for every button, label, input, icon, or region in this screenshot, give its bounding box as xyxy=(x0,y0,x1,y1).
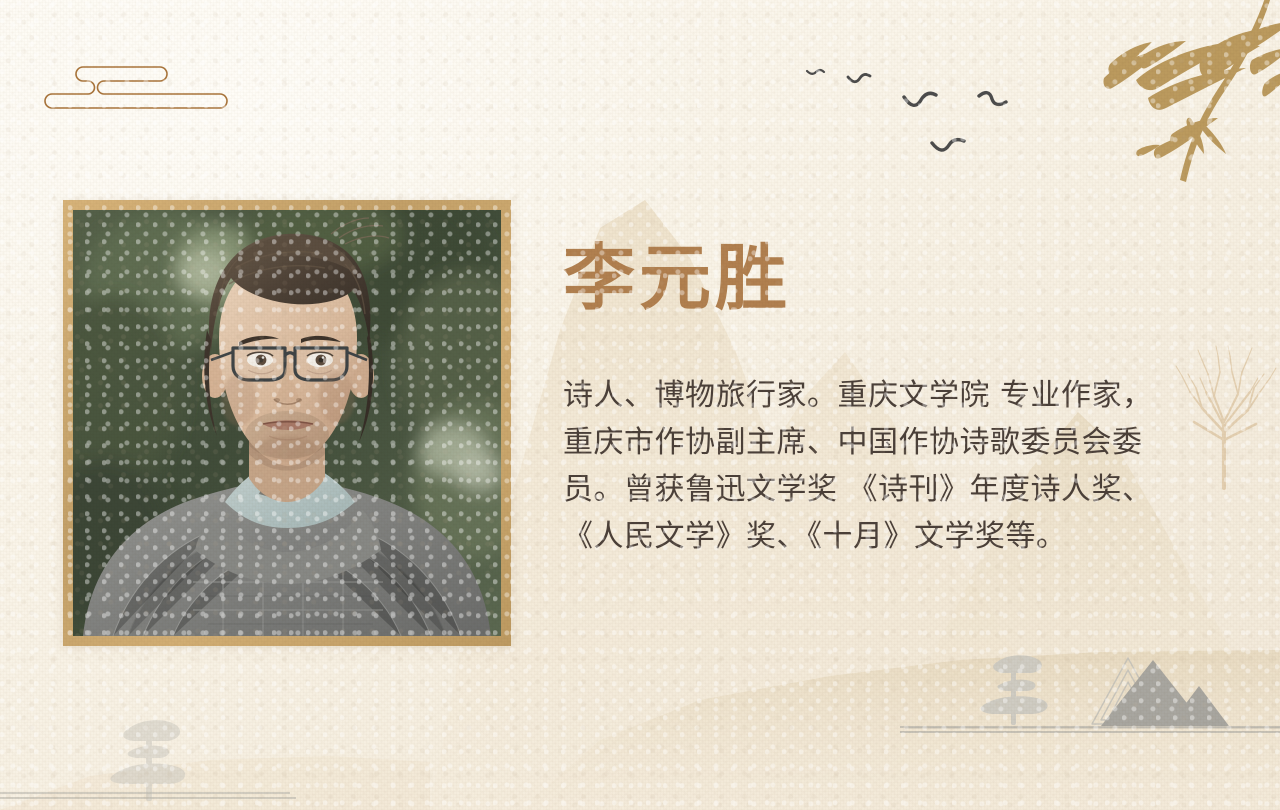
portrait-photo xyxy=(73,210,501,636)
bird-icon xyxy=(807,70,824,74)
bird-icon xyxy=(848,74,870,81)
profile-bio-text: 诗人、博物旅行家。重庆文学院 专业作家， 重庆市作协副主席、中国作协诗歌委员会委… xyxy=(563,372,1219,560)
page-title: 李元胜 xyxy=(563,242,791,314)
solid-peaks-icon xyxy=(1101,660,1229,726)
pine-tree-right-icon xyxy=(981,655,1048,725)
pine-tree-left-icon xyxy=(88,715,218,810)
bottom-right-rules xyxy=(900,724,1280,738)
bottom-right-scene xyxy=(905,640,1280,755)
bottom-rule-long xyxy=(0,724,1280,736)
portrait-photo-frame xyxy=(63,200,511,646)
birds-flock xyxy=(790,55,1030,175)
cloud-pattern-icon xyxy=(40,50,240,110)
bird-icon xyxy=(932,140,964,150)
bird-icon xyxy=(904,93,936,105)
slide-canvas: 李元胜 诗人、博物旅行家。重庆文学院 专业作家， 重庆市作协副主席、中国作协诗歌… xyxy=(0,0,1280,810)
bottom-left-rules xyxy=(0,790,300,804)
triangle-outline-icon xyxy=(1092,658,1164,724)
bamboo-branch-icon xyxy=(1080,0,1280,204)
bird-icon xyxy=(979,93,1006,105)
portrait-illustration xyxy=(73,210,501,636)
